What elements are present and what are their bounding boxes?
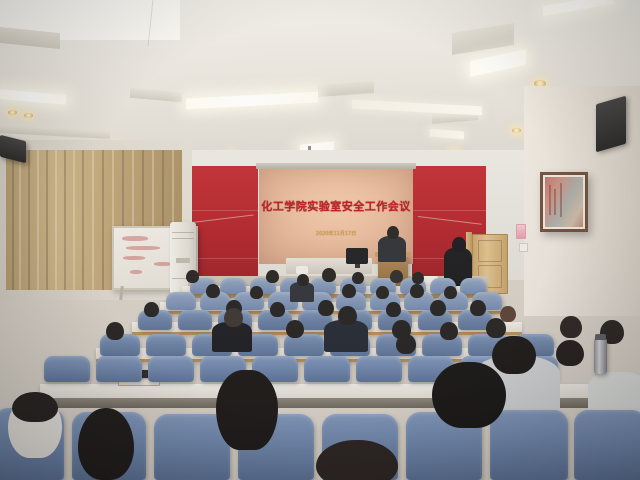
seat[interactable] bbox=[356, 356, 402, 382]
attendee-hair bbox=[12, 392, 58, 422]
attendee-head bbox=[144, 302, 159, 317]
attendee-head bbox=[206, 284, 220, 298]
seat[interactable] bbox=[574, 410, 640, 480]
attendee-head bbox=[410, 284, 424, 298]
attendee-head bbox=[432, 362, 506, 428]
attendee-head bbox=[556, 340, 584, 366]
wall-sign-icon bbox=[516, 224, 526, 239]
attendee-head bbox=[412, 272, 424, 284]
attendee-head bbox=[186, 270, 199, 283]
seat[interactable] bbox=[44, 356, 90, 382]
seat[interactable] bbox=[166, 292, 196, 310]
attendee-head bbox=[396, 334, 416, 354]
attendee-head bbox=[250, 286, 263, 299]
slide-title: 化工学院实验室安全工作会议 bbox=[259, 200, 413, 213]
attendee-head bbox=[270, 302, 285, 317]
seat[interactable] bbox=[304, 356, 350, 382]
lecture-hall-photo: 化工学院实验室安全工作会议 2020年11月17日 bbox=[0, 0, 640, 480]
attendee-head bbox=[486, 318, 506, 338]
attendee-head bbox=[390, 270, 403, 283]
seat[interactable] bbox=[96, 356, 142, 382]
attendee-head bbox=[78, 408, 134, 480]
attendee-head bbox=[318, 300, 334, 316]
thermos-icon[interactable] bbox=[594, 338, 607, 374]
seat[interactable] bbox=[490, 410, 568, 480]
attendee-head bbox=[286, 320, 304, 338]
seat[interactable] bbox=[148, 356, 194, 382]
monitor-icon bbox=[346, 248, 368, 264]
attendee-head bbox=[430, 300, 446, 316]
downlight-icon bbox=[512, 128, 521, 133]
attendee-head bbox=[352, 272, 364, 284]
attendee-head bbox=[444, 286, 457, 299]
attendee-head bbox=[216, 370, 278, 450]
monitor-stand bbox=[355, 264, 360, 268]
thermos-cap bbox=[595, 334, 606, 340]
seat[interactable] bbox=[178, 310, 212, 330]
attendee-head bbox=[440, 322, 458, 340]
light-switch-icon[interactable] bbox=[519, 243, 528, 252]
downlight-icon bbox=[24, 113, 33, 118]
attendee-head bbox=[560, 316, 582, 338]
speaker-icon bbox=[596, 96, 626, 153]
attendee-head bbox=[342, 284, 356, 298]
phone-icon[interactable] bbox=[296, 266, 308, 274]
attendee-head bbox=[386, 302, 401, 317]
attendee-head bbox=[376, 286, 389, 299]
attendee-head bbox=[106, 322, 124, 340]
seat[interactable] bbox=[146, 334, 186, 356]
attendee-head bbox=[322, 268, 336, 282]
downlight-icon bbox=[8, 110, 17, 115]
attendee-head bbox=[470, 300, 486, 316]
attendee-head bbox=[266, 270, 279, 283]
framed-picture-icon bbox=[540, 172, 588, 232]
